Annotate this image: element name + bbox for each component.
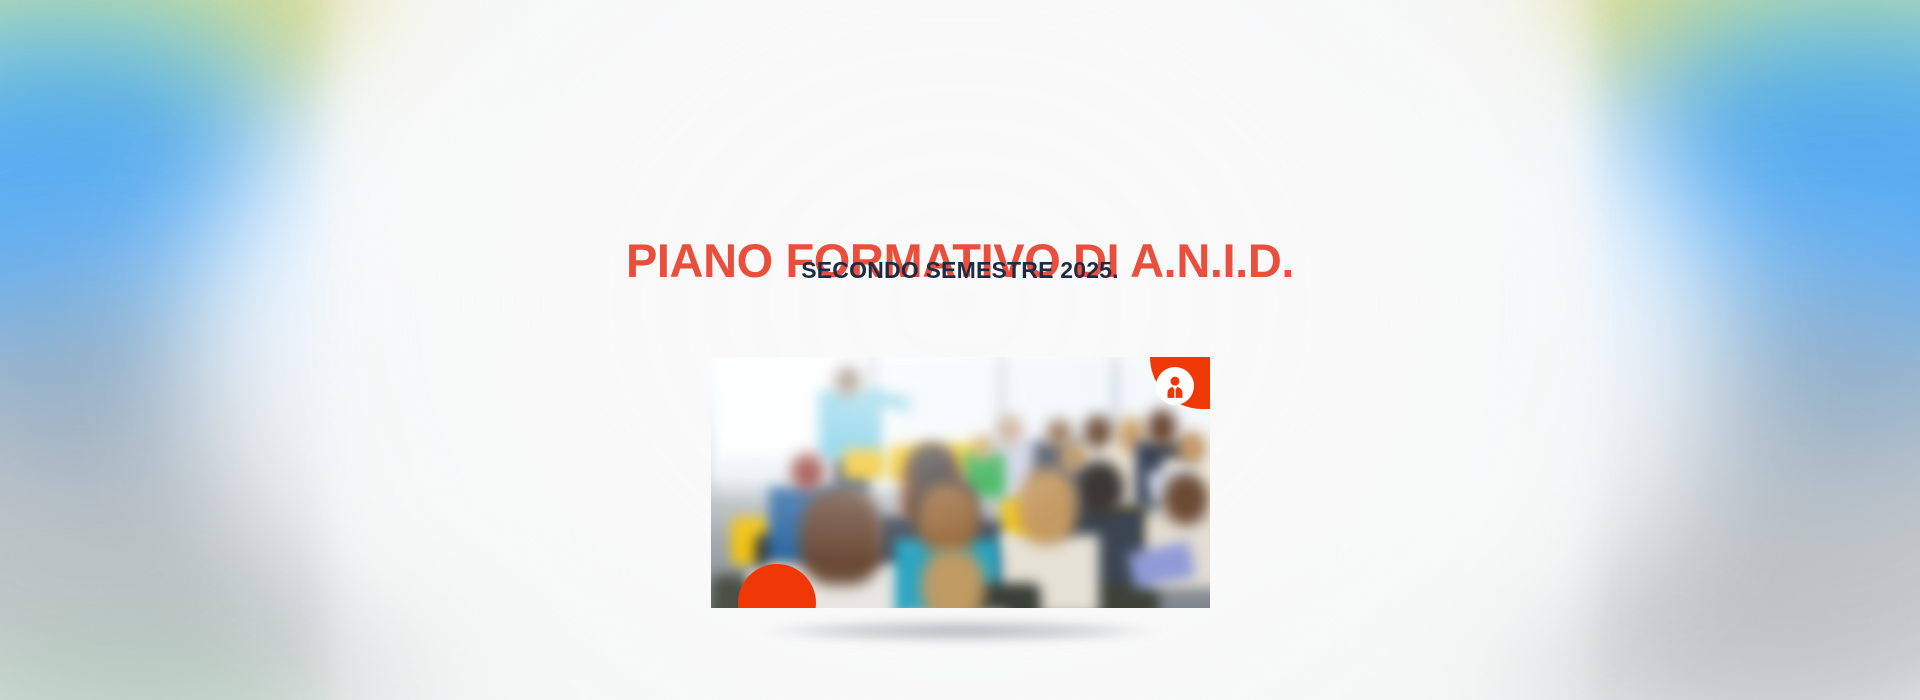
photo-student-head-7 <box>1177 431 1207 465</box>
photo-front-head-9 <box>1077 461 1125 517</box>
hero-image-card <box>711 357 1210 608</box>
page-subtitle: SECONDO SEMESTRE 2025. <box>0 258 1920 283</box>
photo-front-head-7 <box>1017 469 1077 545</box>
hero-content: PIANO FORMATIVO DI A.N.I.D. SECONDO SEME… <box>0 0 1920 700</box>
person-icon <box>1165 376 1185 398</box>
classroom-photo <box>711 357 1210 608</box>
photo-student-head-6 <box>1147 409 1177 447</box>
photo-front-head-8 <box>921 549 985 608</box>
photo-teacher-paper <box>907 397 937 411</box>
hero-banner: PIANO FORMATIVO DI A.N.I.D. SECONDO SEME… <box>0 0 1920 700</box>
photo-student-head-3 <box>973 435 993 459</box>
photo-front-head-10 <box>1163 473 1209 525</box>
photo-chair-yellow-3 <box>843 449 885 479</box>
photo-student-head-4 <box>1083 415 1113 449</box>
photo-teacher-head <box>835 367 861 397</box>
corner-badge <box>1150 357 1210 409</box>
photo-front-head-1 <box>791 453 825 491</box>
photo-front-head-6 <box>917 483 979 555</box>
photo-student-head-1 <box>997 415 1023 445</box>
hero-image-shadow <box>761 620 1161 642</box>
photo-front-head-2 <box>799 487 883 585</box>
